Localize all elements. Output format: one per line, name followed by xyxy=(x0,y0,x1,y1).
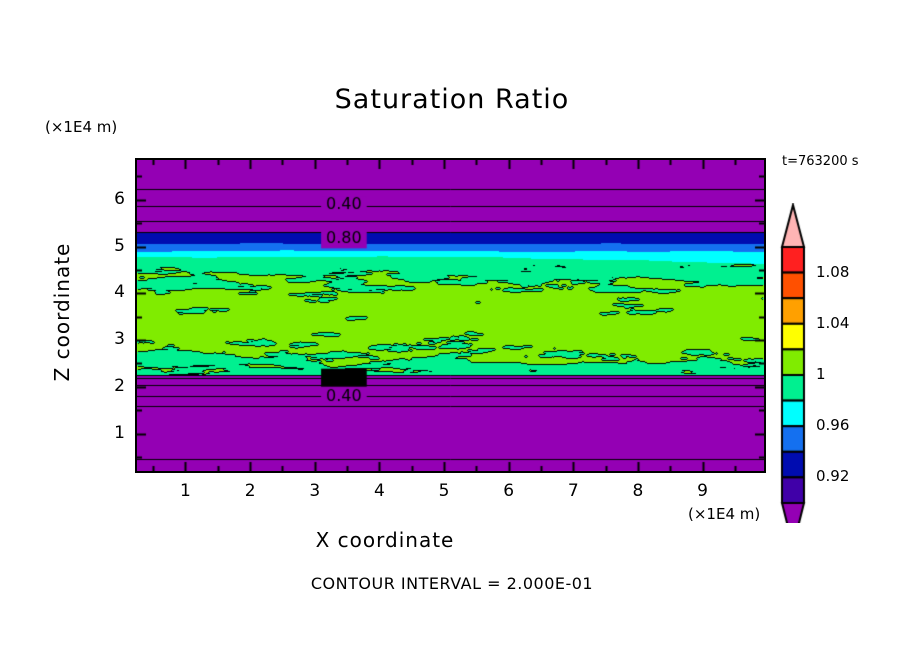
colorbar-tick-label: 0.96 xyxy=(816,416,849,434)
y-tick-label: 1 xyxy=(101,423,125,443)
contour-plot-area xyxy=(135,158,766,473)
figure-root: Saturation Ratio (×1E4 m) t=763200 s Z c… xyxy=(0,0,904,654)
x-axis-unit-label: (×1E4 m) xyxy=(688,505,760,523)
y-axis-unit-label: (×1E4 m) xyxy=(45,118,117,136)
x-tick-label: 3 xyxy=(303,481,327,501)
x-tick-label: 9 xyxy=(691,481,715,501)
x-tick-label: 4 xyxy=(367,481,391,501)
x-tick-label: 2 xyxy=(238,481,262,501)
x-tick-label: 8 xyxy=(626,481,650,501)
colorbar: 1.081.0410.960.92 xyxy=(778,203,898,523)
y-axis-title: Z coordinate xyxy=(50,212,74,412)
contour-interval-caption: CONTOUR INTERVAL = 2.000E-01 xyxy=(0,574,904,593)
page-title: Saturation Ratio xyxy=(0,84,904,115)
colorbar-tick-label: 1 xyxy=(816,365,826,383)
x-tick-label: 6 xyxy=(497,481,521,501)
colorbar-tick-label: 1.04 xyxy=(816,314,849,332)
x-tick-label: 7 xyxy=(561,481,585,501)
y-tick-label: 3 xyxy=(101,329,125,349)
x-tick-label: 5 xyxy=(432,481,456,501)
colorbar-tick-label: 0.92 xyxy=(816,467,849,485)
y-tick-label: 5 xyxy=(101,236,125,256)
x-axis-title: X coordinate xyxy=(0,528,770,552)
contour-field-canvas xyxy=(137,160,764,471)
y-tick-label: 6 xyxy=(101,189,125,209)
y-tick-label: 2 xyxy=(101,376,125,396)
timestamp-annotation: t=763200 s xyxy=(782,154,859,169)
x-tick-label: 1 xyxy=(173,481,197,501)
y-tick-label: 4 xyxy=(101,282,125,302)
colorbar-tick-label: 1.08 xyxy=(816,263,849,281)
